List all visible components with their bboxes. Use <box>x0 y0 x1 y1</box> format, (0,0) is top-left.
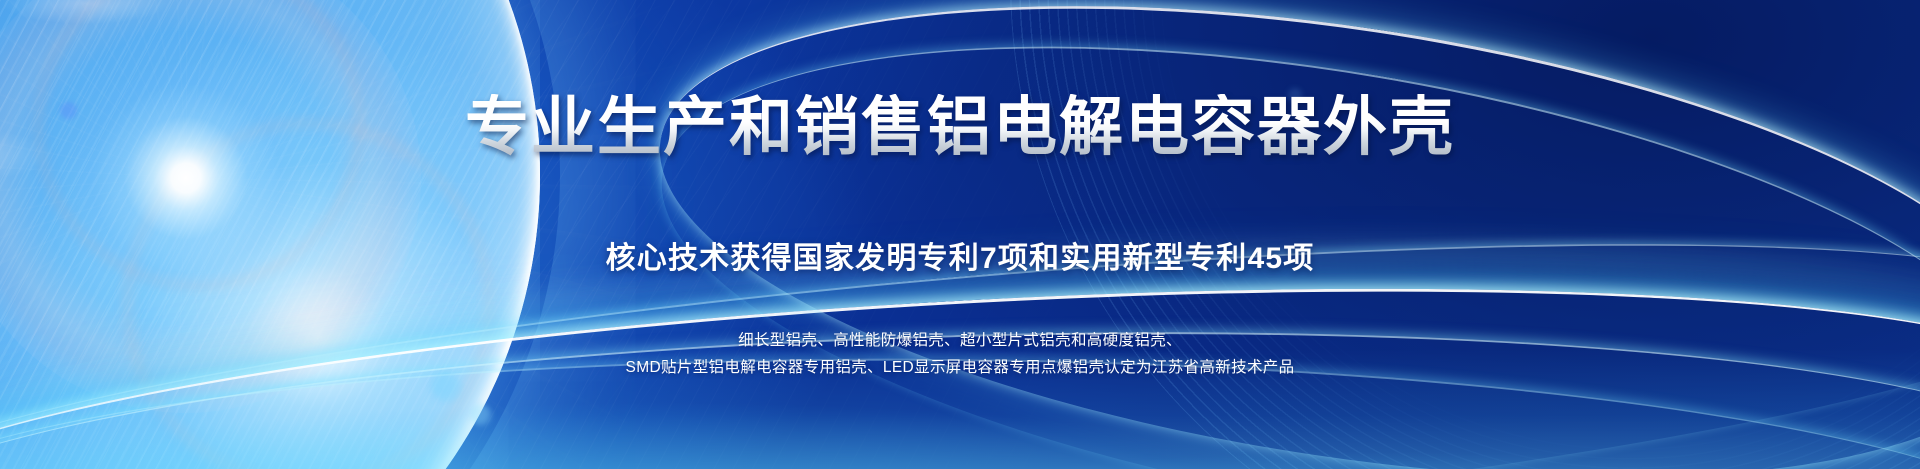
hero-banner: 专业生产和销售铝电解电容器外壳 核心技术获得国家发明专利7项和实用新型专利45项… <box>0 0 1920 469</box>
banner-description-line-2: SMD贴片型铝电解电容器专用铝壳、LED显示屏电容器专用点爆铝壳认定为江苏省高新… <box>626 355 1295 382</box>
banner-headline: 专业生产和销售铝电解电容器外壳 <box>465 94 1455 161</box>
banner-description: 细长型铝壳、高性能防爆铝壳、超小型片式铝壳和高硬度铝壳、 SMD贴片型铝电解电容… <box>626 328 1295 381</box>
banner-content: 专业生产和销售铝电解电容器外壳 核心技术获得国家发明专利7项和实用新型专利45项… <box>0 0 1920 469</box>
banner-subheadline: 核心技术获得国家发明专利7项和实用新型专利45项 <box>606 233 1315 277</box>
banner-description-line-1: 细长型铝壳、高性能防爆铝壳、超小型片式铝壳和高硬度铝壳、 <box>626 328 1295 355</box>
